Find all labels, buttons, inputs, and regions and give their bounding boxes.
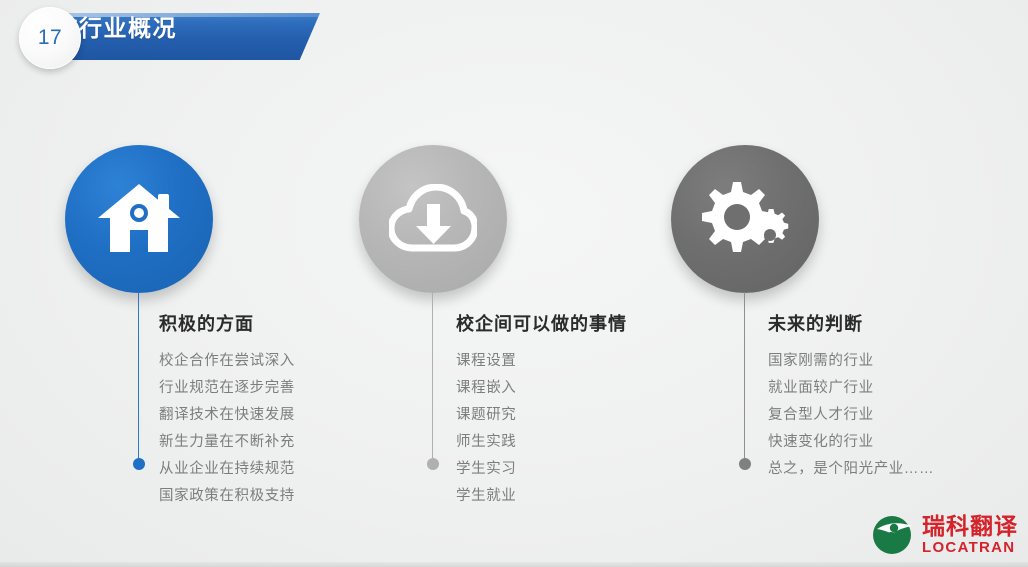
list-item: 课程设置 (456, 348, 516, 375)
list-item: 复合型人才行业 (768, 402, 934, 429)
connector-line (138, 292, 139, 464)
locatran-mark-icon (871, 513, 917, 557)
slide-number-badge: 17 (19, 7, 81, 69)
logo-name-cn: 瑞科翻译 (922, 515, 1018, 538)
list-item: 快速变化的行业 (768, 429, 934, 456)
icon-bubble-cloud (359, 145, 507, 293)
column-list: 国家刚需的行业 就业面较广行业 复合型人才行业 快速变化的行业 总之，是个阳光产… (768, 348, 934, 483)
gears-icon (699, 180, 791, 258)
list-item: 新生力量在不断补充 (159, 429, 295, 456)
cloud-download-icon (389, 184, 477, 254)
list-item: 校企合作在尝试深入 (159, 348, 295, 375)
list-item: 学生就业 (456, 483, 516, 510)
column-list: 校企合作在尝试深入 行业规范在逐步完善 翻译技术在快速发展 新生力量在不断补充 … (159, 348, 295, 510)
connector-dot (133, 458, 145, 470)
icon-bubble-gears (671, 145, 819, 293)
company-logo: 瑞科翻译 LOCATRAN (871, 511, 1018, 559)
list-item: 学生实习 (456, 456, 516, 483)
column-positive-aspects: 积极的方面 校企合作在尝试深入 行业规范在逐步完善 翻译技术在快速发展 新生力量… (44, 0, 374, 567)
list-item: 国家刚需的行业 (768, 348, 934, 375)
column-list: 课程设置 课程嵌入 课题研究 师生实践 学生实习 学生就业 (456, 348, 516, 510)
list-item: 师生实践 (456, 429, 516, 456)
list-item: 从业企业在持续规范 (159, 456, 295, 483)
house-icon (96, 182, 182, 256)
icon-bubble-house (65, 145, 213, 293)
logo-name-en: LOCATRAN (922, 540, 1018, 555)
list-item: 课题研究 (456, 402, 516, 429)
list-item: 课程嵌入 (456, 375, 516, 402)
column-future-judgement: 未来的判断 国家刚需的行业 就业面较广行业 复合型人才行业 快速变化的行业 总之… (650, 0, 980, 567)
column-school-enterprise: 校企间可以做的事情 课程设置 课程嵌入 课题研究 师生实践 学生实习 学生就业 (338, 0, 668, 567)
list-item: 国家政策在积极支持 (159, 483, 295, 510)
list-item: 翻译技术在快速发展 (159, 402, 295, 429)
list-item: 行业规范在逐步完善 (159, 375, 295, 402)
connector-dot (427, 458, 439, 470)
slide-canvas: 语言行业概况 17 积极的方面 校企合作在尝试深入 行业规范在逐步完善 翻译技 (0, 0, 1028, 567)
column-heading: 校企间可以做的事情 (456, 310, 627, 336)
connector-dot (739, 458, 751, 470)
column-heading: 未来的判断 (768, 310, 863, 336)
connector-line (744, 292, 745, 464)
content-columns: 积极的方面 校企合作在尝试深入 行业规范在逐步完善 翻译技术在快速发展 新生力量… (0, 0, 1028, 567)
connector-line (432, 292, 433, 464)
column-heading: 积极的方面 (159, 310, 254, 336)
list-item: 就业面较广行业 (768, 375, 934, 402)
list-item: 总之，是个阳光产业…… (768, 456, 934, 483)
logo-wordmark: 瑞科翻译 LOCATRAN (922, 515, 1018, 555)
slide-number-text: 17 (38, 26, 62, 50)
